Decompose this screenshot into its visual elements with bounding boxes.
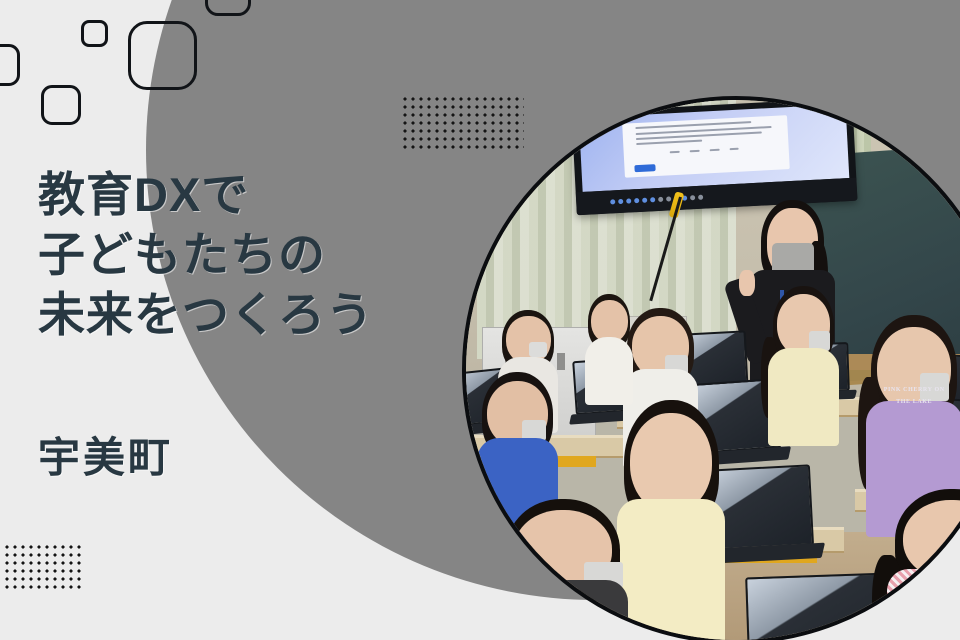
student-figure	[617, 413, 725, 640]
shirt-text: PINK CHERRY ON THE LAKE	[879, 385, 949, 408]
student-figure	[768, 294, 838, 434]
student-figure	[498, 510, 628, 640]
classroom-photo: PINK CHERRY ON THE LAKE	[466, 100, 960, 640]
rounded-square-1	[0, 44, 20, 86]
promo-banner: PINK CHERRY ON THE LAKE	[0, 0, 960, 640]
organization-name: 宇美町	[38, 424, 173, 485]
classroom-display	[572, 100, 858, 215]
wall-clock-icon	[920, 132, 960, 160]
rounded-square-4	[128, 21, 197, 90]
student-figure	[585, 300, 634, 397]
dot-grid-bottom	[2, 542, 84, 592]
laptop	[745, 573, 889, 640]
student-figure	[887, 500, 960, 640]
rounded-square-3	[81, 20, 108, 47]
page-title: 教育DXで 子どもたちの 未来をつくろう	[38, 165, 374, 345]
rounded-square-2	[41, 85, 81, 125]
classroom-photo-circle: PINK CHERRY ON THE LAKE	[462, 96, 960, 640]
rounded-square-5	[205, 0, 251, 16]
